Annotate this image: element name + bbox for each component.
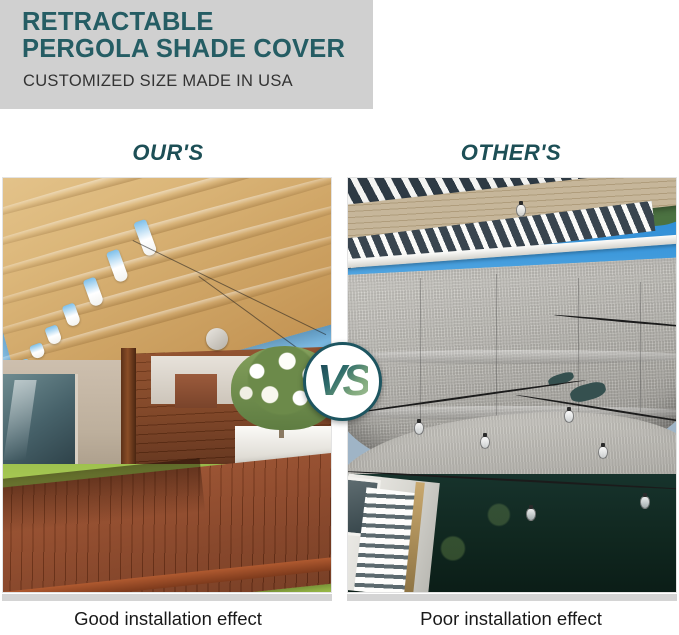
mesh-fold [640, 282, 641, 412]
light-bulb [564, 410, 574, 423]
caption-good-installation: Good installation effect [0, 608, 336, 630]
light-bulb [598, 446, 608, 459]
pergola-post [121, 348, 136, 478]
light-bulb [526, 508, 536, 521]
page-title: RETRACTABLE PERGOLA SHADE COVER [22, 9, 367, 63]
brick-detail [175, 374, 217, 408]
header-band: RETRACTABLE PERGOLA SHADE COVER CUSTOMIZ… [0, 0, 373, 109]
mesh-fold [420, 278, 421, 428]
light-bulb [516, 204, 526, 217]
vs-label: VS [317, 359, 368, 403]
light-bulb [480, 436, 490, 449]
caption-poor-installation: Poor installation effect [343, 608, 679, 630]
light-bulb [414, 422, 424, 435]
panel-bottom-strip-left [2, 594, 332, 601]
mesh-sag-seam [347, 350, 677, 364]
photo-poor-installation [347, 177, 677, 593]
page-subtitle: CUSTOMIZED SIZE MADE IN USA [23, 72, 293, 91]
panel-bottom-strip-right [347, 594, 677, 601]
photo-good-installation [2, 177, 332, 593]
mesh-fold [496, 274, 497, 434]
light-bulb [640, 496, 650, 509]
satellite-dish [206, 328, 228, 350]
vs-badge: VS [303, 342, 382, 421]
label-others: OTHER'S [343, 140, 679, 166]
label-ours: OUR'S [0, 140, 336, 166]
